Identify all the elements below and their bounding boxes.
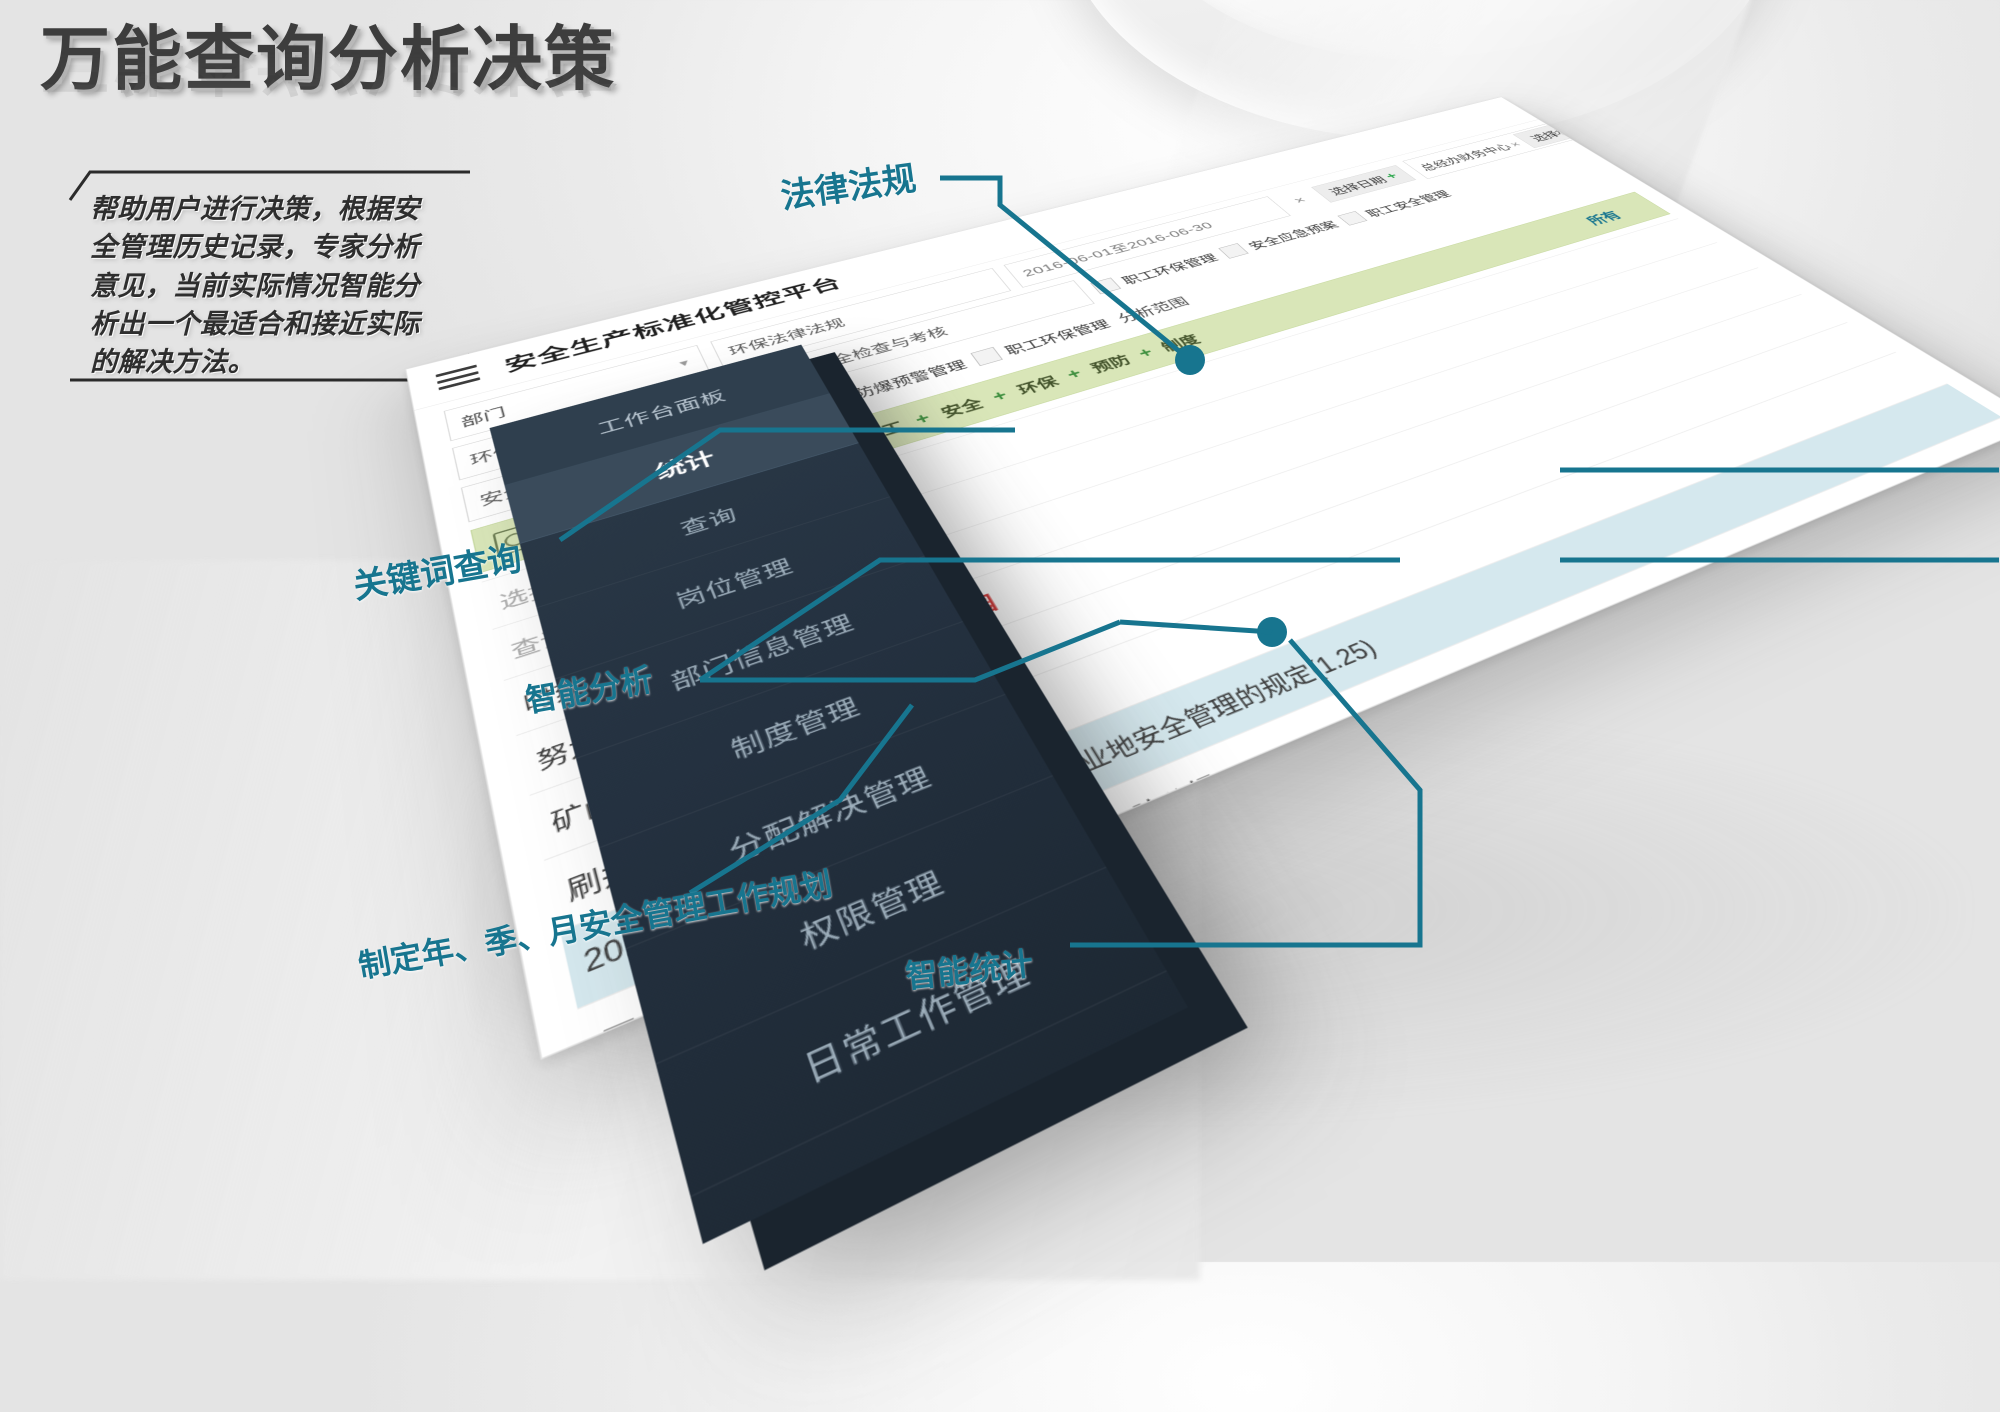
- cell-safedays: 98: [1930, 535, 2000, 708]
- hamburger-icon[interactable]: [436, 365, 481, 391]
- condition-tag[interactable]: 制度: [1156, 330, 1204, 355]
- cell-maintenance: 8.32: [1660, 709, 2000, 940]
- person-field[interactable]: [1619, 97, 1781, 121]
- condition-tag[interactable]: 职工: [857, 416, 908, 445]
- date-clear-icon[interactable]: ×: [1283, 193, 1317, 208]
- checkbox-box[interactable]: [1090, 278, 1121, 295]
- column-header: 安全运行(天): [1872, 499, 2000, 664]
- condition-tag[interactable]: 环保: [1013, 372, 1063, 399]
- perspective-scene: 安全生产标准化管控平台 部门 ▼ 环保法律法规 2016-06-01至2016-…: [430, 0, 2000, 1040]
- column-header: 安全培训(人次): [1148, 771, 1601, 1029]
- cell-maintenance: 18.23: [1607, 664, 1986, 879]
- plus-icon: +: [911, 410, 933, 429]
- select-date-label: 选择日期: [1324, 173, 1390, 197]
- plus-icon: +: [1576, 120, 1597, 130]
- column-header: 设备维修(人次): [1552, 621, 1928, 825]
- select-org-label: 选择机构: [1525, 122, 1586, 143]
- plus-icon: +: [989, 387, 1012, 405]
- condition-tag[interactable]: 安全: [936, 394, 986, 422]
- plus-icon: +: [1063, 365, 1086, 382]
- chevron-down-icon: ▼: [675, 357, 693, 369]
- slide-stage: 万能查询分析决策 万能查询分析决策 帮助用户进行决策，根据安全管理历史记录，专家…: [0, 0, 2000, 1262]
- condition-tag[interactable]: 预防: [1086, 351, 1135, 377]
- scope-label[interactable]: 所有: [1580, 200, 1651, 227]
- cell-safedays: 48.63: [1988, 571, 2000, 756]
- cell-maintenance: [1717, 757, 2000, 1005]
- checkbox-box[interactable]: [1218, 243, 1249, 259]
- plus-icon: +: [1134, 345, 1157, 361]
- checkbox-item[interactable]: 防爆预警管理: [817, 356, 970, 412]
- checkbox-box[interactable]: [970, 347, 1002, 366]
- cell-training: 14.25: [1198, 823, 1659, 1059]
- cell-training: 21.35: [1241, 880, 1716, 1060]
- checkbox-box[interactable]: [1337, 211, 1367, 226]
- analysis-range-label: 分析范围: [1113, 293, 1193, 326]
